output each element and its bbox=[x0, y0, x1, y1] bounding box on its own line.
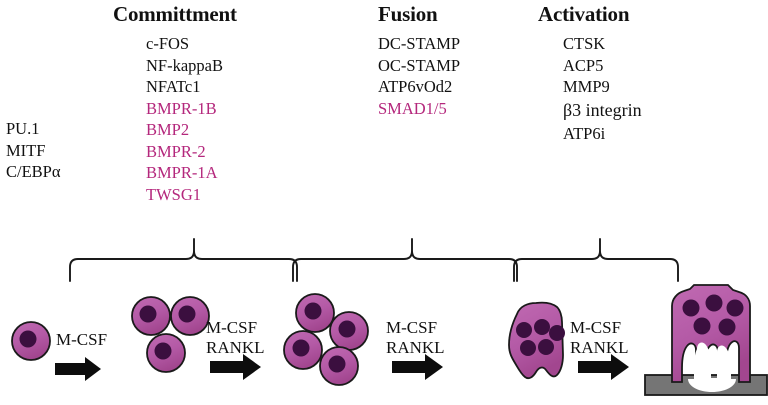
transition-label-3: M-CSF RANKL bbox=[386, 318, 445, 358]
stage-proliferating-precursors bbox=[132, 297, 209, 372]
cell-pathway-illustration bbox=[0, 0, 768, 405]
cytokine-name: RANKL bbox=[570, 338, 629, 358]
stage-resorbing-osteoclast bbox=[672, 285, 750, 382]
cytokine-name: M-CSF bbox=[570, 318, 629, 338]
transition-label-2: M-CSF RANKL bbox=[206, 318, 265, 358]
stage-multinucleated-osteoclast bbox=[509, 303, 565, 379]
cytokine-name: RANKL bbox=[206, 338, 265, 358]
cytokine-name: M-CSF bbox=[56, 330, 107, 350]
transition-label-1: M-CSF bbox=[56, 330, 107, 350]
cytokine-name: M-CSF bbox=[206, 318, 265, 338]
figure-canvas: Committment Fusion Activation PU.1 MITF … bbox=[0, 0, 768, 405]
transition-label-4: M-CSF RANKL bbox=[570, 318, 629, 358]
stage-monocyte-precursor bbox=[12, 322, 50, 360]
stage-preosteoclast-cluster bbox=[284, 294, 368, 385]
arrow-1 bbox=[55, 357, 101, 381]
cytokine-name: RANKL bbox=[386, 338, 445, 358]
cytokine-name: M-CSF bbox=[386, 318, 445, 338]
